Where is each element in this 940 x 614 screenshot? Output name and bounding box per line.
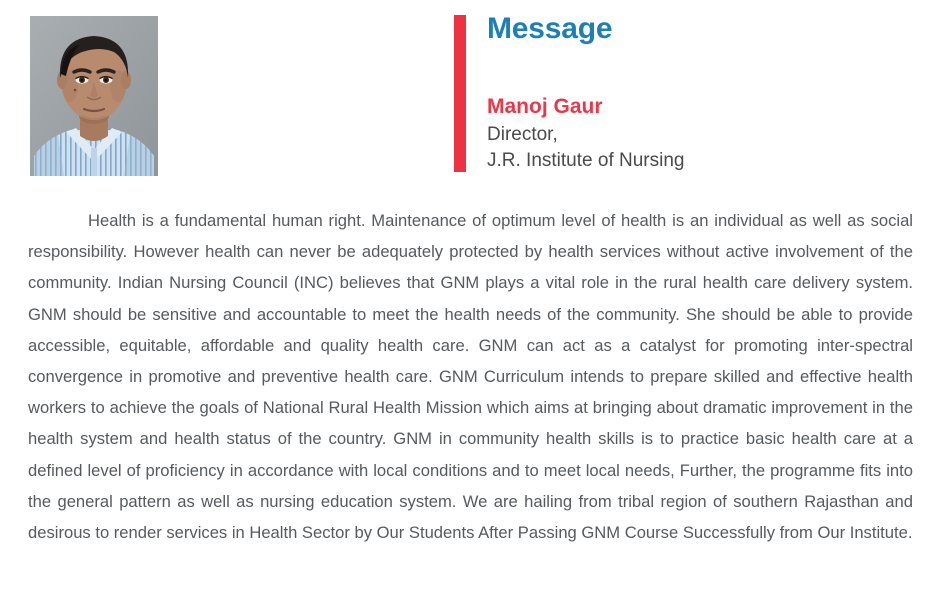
header-text-block: Message Manoj Gaur Director, J.R. Instit…: [487, 12, 907, 46]
message-page: Message Manoj Gaur Director, J.R. Instit…: [0, 0, 940, 614]
director-role: Director,: [487, 122, 558, 147]
director-organization: J.R. Institute of Nursing: [487, 148, 684, 173]
red-accent-bar: [454, 15, 466, 172]
director-portrait-photo: [30, 16, 158, 176]
message-body: Health is a fundamental human right. Mai…: [28, 205, 913, 548]
message-paragraph: Health is a fundamental human right. Mai…: [28, 205, 913, 548]
portrait-illustration: [30, 16, 158, 176]
director-name: Manoj Gaur: [487, 94, 603, 120]
message-header: Message Manoj Gaur Director, J.R. Instit…: [0, 0, 940, 192]
page-title: Message: [487, 12, 907, 46]
